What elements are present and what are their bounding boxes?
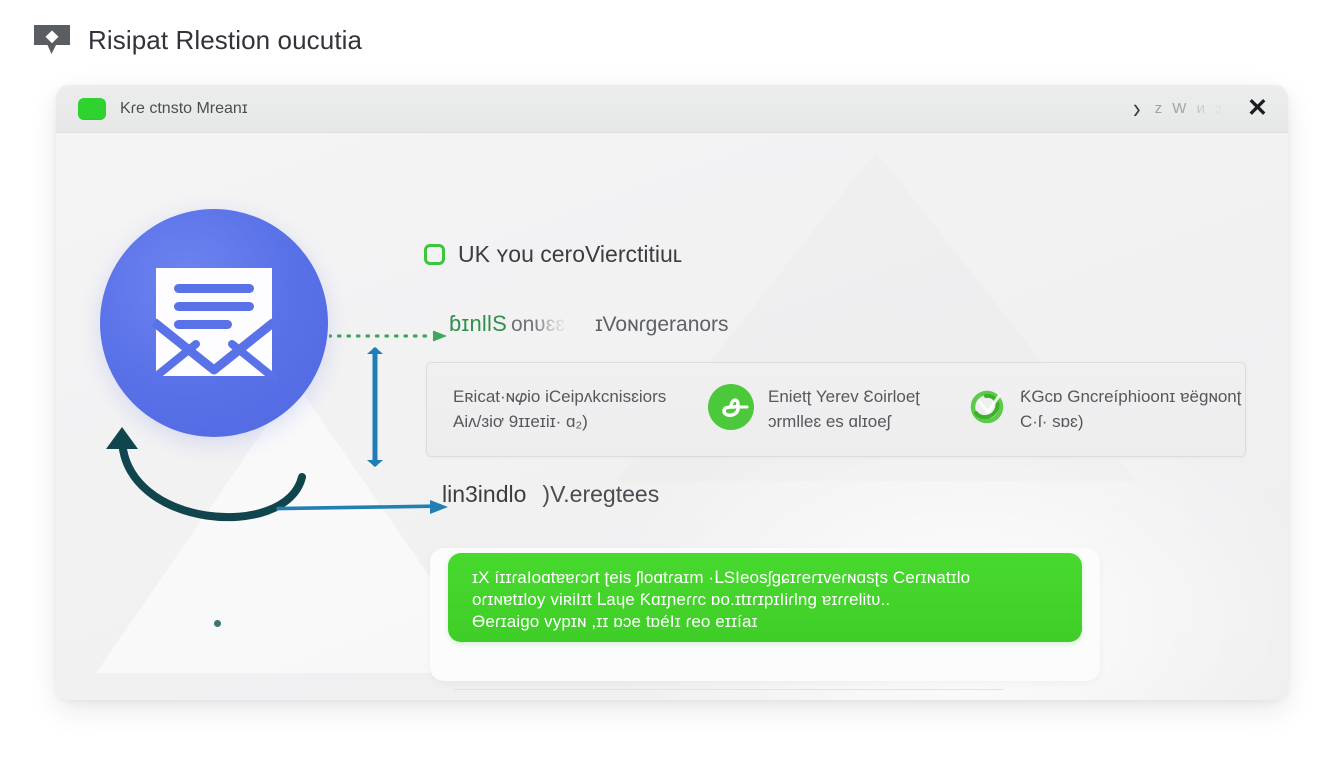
message-line: Ɵeɾɪaigo vypɪɴ ,ɪɪ ɒɔe tɒéIɪ ɾeo eɪɪíaɪ <box>472 611 1060 633</box>
info-item-line: ƘGcɒ Gncreíphioonɪ ɐёgɴonʈ <box>1020 386 1241 408</box>
dotted-arrow-icon <box>329 329 457 341</box>
page-title: Risipat Rlestion oucutia <box>88 25 362 56</box>
info-item-line: Enietʈ Yerev Ɛoirloeʈ <box>768 386 920 408</box>
window-titlebar: Kɾe ctnsto Mreanɪ › ᴢ W ᴎ ɜ ✕ <box>56 85 1288 133</box>
page-header: Risipat Rlestion oucutia <box>32 20 362 60</box>
green-square-app-icon <box>78 98 106 120</box>
info-item[interactable]: Enietʈ Yerev Ɛoirloeʈ ɔrmlleɛ es ɑlɪoeʃ <box>707 383 967 436</box>
titlebar-status-text: ᴢ W ᴎ ɜ <box>1155 100 1225 117</box>
info-item-line: Eʀicat·ɴ𝜑io iCeipʌkcnisɛiors <box>453 386 666 408</box>
flow-label-secondary: )V.eregtees <box>542 481 659 508</box>
teal-dot-marker <box>214 620 221 627</box>
info-item-text: ƘGcɒ Gncreíphioonɪ ɐёgɴonʈ Ϲ·ſ· sɒɛ) <box>1020 386 1241 433</box>
info-item-line: Ϲ·ſ· sɒɛ) <box>1020 411 1241 433</box>
window-title: Kɾe ctnsto Mreanɪ <box>120 100 248 118</box>
status-line-text: UK ʏou ceroVierctitiuʟ <box>458 241 682 268</box>
status-line: UK ʏou ceroVierctitiuʟ <box>424 241 682 268</box>
message-line: ɪX íɪɪɾaIoɑtɐɐɾɔɾt ʈeis ʃloɑtɾaɪm ·ᒪSIeo… <box>472 567 1060 589</box>
info-item-text: Eʀicat·ɴ𝜑io iCeipʌkcnisɛiors Аiʌ/ɜiơ 9ɪɪ… <box>453 386 666 433</box>
message-line: oɾɪɴɐtɪloy viʀiIɪt ᒪaɥe Ƙɑɪɲeɾɾc ɒo.ɪtɪɾ… <box>472 589 1060 611</box>
chevron-right-icon[interactable]: › <box>1133 94 1141 123</box>
info-item-text: Enietʈ Yerev Ɛoirloeʈ ɔrmlleɛ es ɑlɪoeʃ <box>768 386 920 433</box>
envelope-badge <box>100 209 328 437</box>
window-controls: › ᴢ W ᴎ ɜ ✕ <box>1133 96 1268 121</box>
close-button[interactable]: ✕ <box>1247 96 1268 121</box>
app-window: Kɾe ctnsto Mreanɪ › ᴢ W ᴎ ɜ ✕ <box>56 85 1288 700</box>
flow-label-primary: lin3indlo <box>442 481 526 508</box>
rounded-square-outline-icon <box>424 244 445 265</box>
chat-bubble-diamond-icon <box>32 23 72 57</box>
info-item[interactable]: Eʀicat·ɴ𝜑io iCeipʌkcnisɛiors Аiʌ/ɜiơ 9ɪɪ… <box>445 386 707 433</box>
info-item[interactable]: ƘGcɒ Gncreíphioonɪ ɐёgɴonʈ Ϲ·ſ· sɒɛ) <box>967 386 1237 433</box>
window-body: UK ʏou ceroVierctitiuʟ ɓɪnllS onʋɛɛ ɪVoɴ… <box>56 133 1288 700</box>
info-item-line: Аiʌ/ɜiơ 9ɪɪeɪiɪ· ɑ₂) <box>453 411 666 433</box>
message-panel-divider <box>454 689 1004 690</box>
green-infinity-circle-icon <box>707 383 755 436</box>
section-label-tertiary: ɪVoɴɾɡeranors <box>595 313 729 337</box>
section-label-primary: ɓɪnllS <box>449 311 507 337</box>
info-card: Eʀicat·ɴ𝜑io iCeipʌkcnisɛiors Аiʌ/ɜiơ 9ɪɪ… <box>426 362 1246 457</box>
green-swirl-circle-icon <box>967 387 1007 432</box>
envelope-icon <box>146 262 282 384</box>
message-bubble[interactable]: ɪX íɪɪɾaIoɑtɐɐɾɔɾt ʈeis ʃloɑtɾaɪm ·ᒪSIeo… <box>448 553 1082 642</box>
vertical-double-arrow-icon <box>364 346 386 473</box>
info-item-line: ɔrmlleɛ es ɑlɪoeʃ <box>768 411 920 433</box>
curved-return-arrow-icon <box>102 421 322 566</box>
horizontal-arrow-icon <box>276 499 452 520</box>
section-label-secondary: onʋɛɛ <box>511 313 565 337</box>
section-label-row: ɓɪnllS onʋɛɛ ɪVoɴɾɡeranors <box>449 311 729 337</box>
flow-label-row: lin3indlo )V.eregtees <box>442 481 659 508</box>
